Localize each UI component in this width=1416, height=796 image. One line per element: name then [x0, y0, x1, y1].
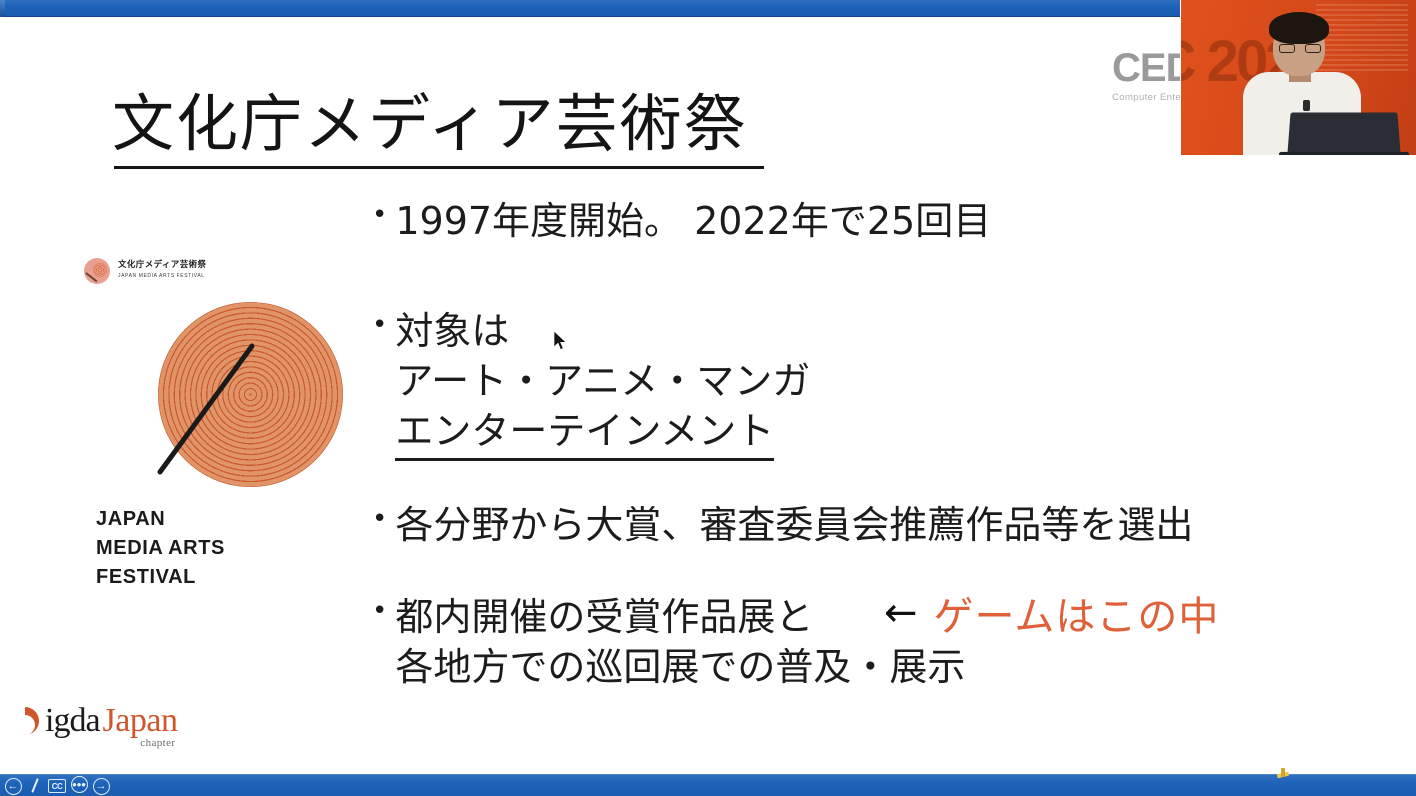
annotate-pen-button[interactable]: [26, 777, 44, 795]
presenter-microphone-icon: [1303, 100, 1310, 111]
arrow-right-icon: →: [93, 778, 110, 795]
igda-circle-icon: [8, 704, 42, 738]
webcam-backdrop-texture: [1316, 4, 1408, 82]
slide-title: 文化庁メディア芸術祭: [112, 90, 748, 158]
next-slide-button[interactable]: →: [92, 777, 110, 795]
festival-logo-name: JAPAN MEDIA ARTS FESTIVAL: [96, 505, 350, 592]
closed-captions-button[interactable]: CC: [48, 777, 66, 795]
bullet-1-line-1: 1997年度開始。 2022年で25回目: [395, 199, 991, 243]
festival-mini-logo-jp: 文化庁メディア芸術祭: [118, 258, 206, 270]
festival-logo-name-line3: FESTIVAL: [96, 563, 350, 592]
igda-wordmark: igda: [45, 704, 100, 738]
more-options-button[interactable]: •••: [70, 777, 88, 795]
festival-mini-logo: 文化庁メディア芸術祭 JAPAN MEDIA ARTS FESTIVAL: [84, 256, 350, 290]
presenter-glasses-icon: [1279, 44, 1321, 53]
bullet-item-2: • 対象は アート・アニメ・マンガ エンターテインメント: [372, 306, 810, 461]
presentation-toolbar: ← CC ••• →: [4, 775, 110, 796]
pen-icon: [26, 777, 44, 795]
slide-title-underline: [114, 166, 764, 169]
bullet-2-line-2: アート・アニメ・マンガ: [395, 356, 810, 406]
top-bar-edge-handle: [0, 0, 5, 17]
igda-japan-text: Japan: [103, 702, 178, 739]
bullet-2-line-3-highlighted: エンターテインメント: [395, 406, 774, 461]
spiral-needle-icon: [140, 310, 310, 480]
bullet-marker: •: [372, 500, 387, 539]
festival-logo-name-line1: JAPAN: [96, 505, 350, 534]
previous-slide-button[interactable]: ←: [4, 777, 22, 795]
ellipsis-icon: •••: [71, 776, 88, 793]
annotation-arrow-icon: ←: [884, 593, 918, 633]
bullet-item-3: • 各分野から大賞、審査委員会推薦作品等を選出: [372, 500, 1193, 550]
presentation-viewer: CEDEC Computer Entertainment Developers …: [0, 0, 1416, 796]
presenter-hair: [1269, 12, 1329, 44]
presenter-laptop: [1287, 112, 1400, 155]
bullet-marker: •: [372, 592, 387, 631]
bullet-item-1: • 1997年度開始。 2022年で25回目: [372, 196, 991, 246]
festival-mini-logo-en: JAPAN MEDIA ARTS FESTIVAL: [118, 273, 206, 279]
bullet-item-4: • 都内開催の受賞作品展と 各地方での巡回展での普及・展示: [372, 592, 965, 692]
festival-spiral-mark: [158, 302, 343, 487]
slide-annotation: ← ゲームはこの中: [884, 584, 1219, 642]
timeline-marker[interactable]: [1276, 768, 1290, 780]
japan-media-arts-festival-logo: 文化庁メディア芸術祭 JAPAN MEDIA ARTS FESTIVAL JAP…: [80, 256, 350, 592]
annotation-text: ゲームはこの中: [934, 584, 1220, 642]
bullet-4-line-2: 各地方での巡回展での普及・展示: [395, 642, 965, 692]
igda-japan-logo: igda Japan chapter: [8, 699, 177, 743]
igda-japan-wordmark: Japan chapter: [103, 704, 178, 738]
festival-mini-mark-icon: [84, 258, 112, 288]
mouse-cursor: [553, 330, 569, 352]
presenter-webcam-overlay[interactable]: EC 2022: [1180, 0, 1416, 155]
bullet-3-line-1: 各分野から大賞、審査委員会推薦作品等を選出: [395, 503, 1193, 547]
igda-chapter-text: chapter: [140, 738, 175, 749]
arrow-left-icon: ←: [5, 778, 22, 795]
bottom-chrome-bar: ← CC ••• →: [0, 774, 1416, 796]
bullet-2-line-1: 対象は: [395, 306, 810, 356]
bullet-marker: •: [372, 306, 387, 345]
festival-logo-name-line2: MEDIA ARTS: [96, 534, 350, 563]
cc-icon: CC: [48, 779, 66, 793]
bullet-4-line-1: 都内開催の受賞作品展と: [395, 592, 965, 642]
bullet-marker: •: [372, 196, 387, 235]
